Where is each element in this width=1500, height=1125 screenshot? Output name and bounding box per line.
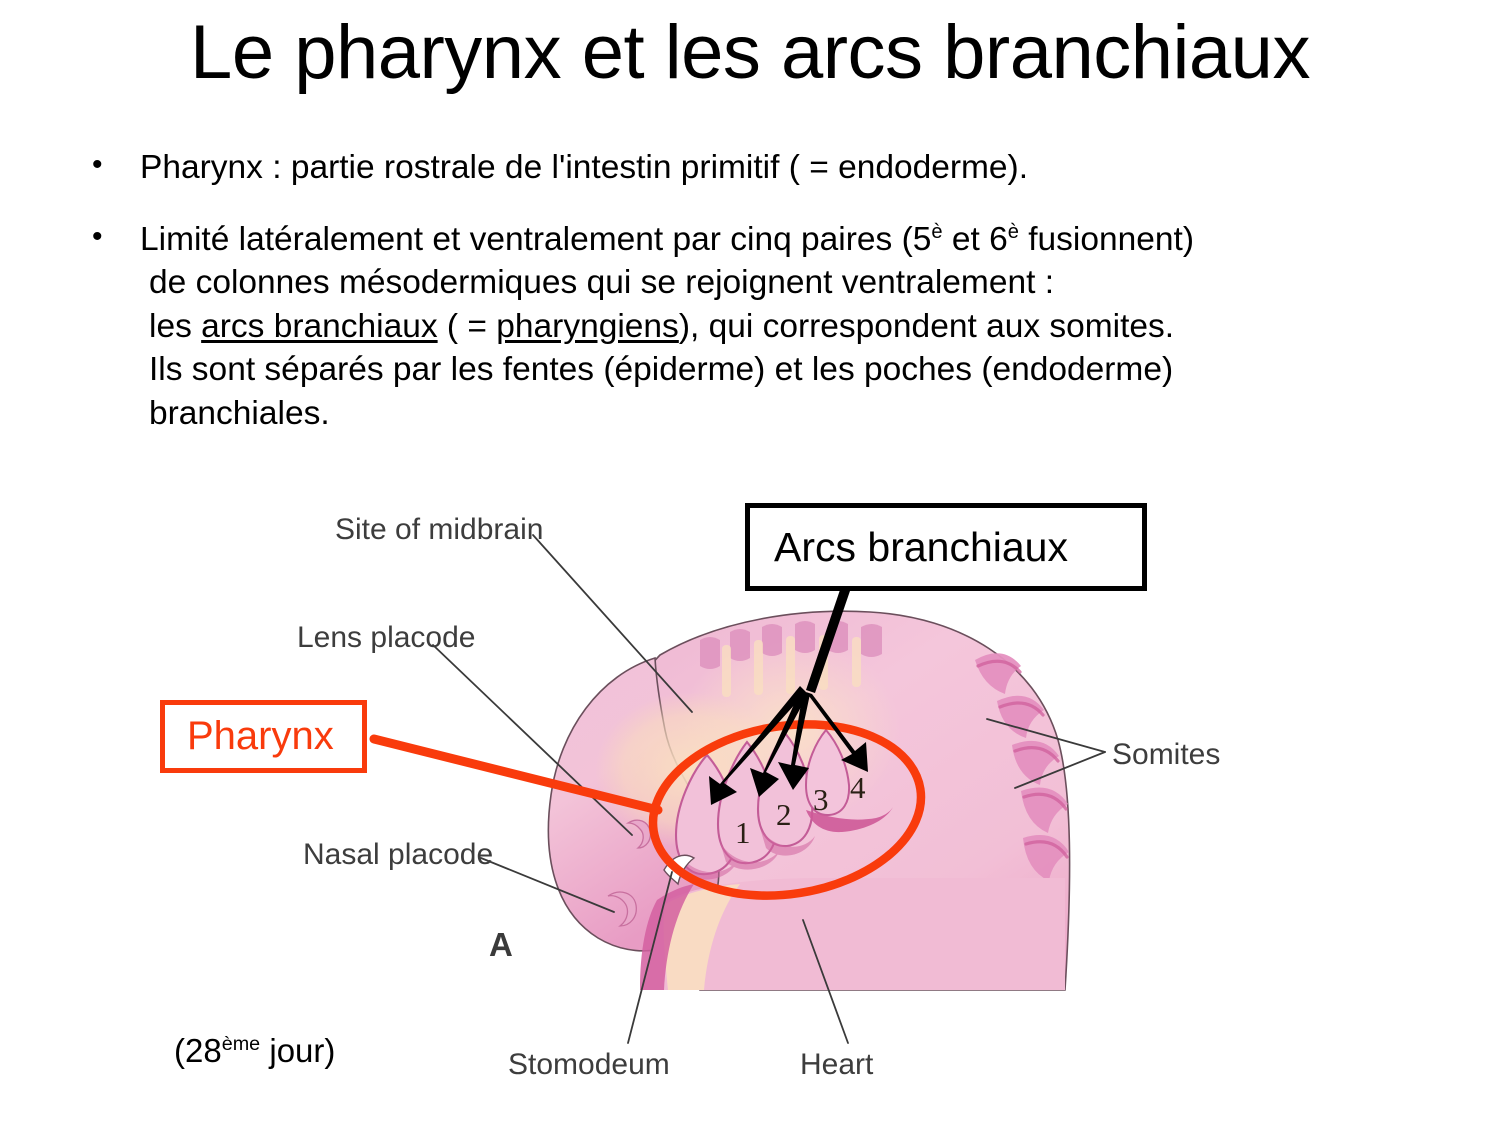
bullet-item-pharynx-definition: • Pharynx : partie rostrale de l'intesti…: [78, 146, 1448, 190]
line-part: Limité latéralement et ventralement par …: [140, 221, 931, 258]
label-nasal-placode: Nasal placode: [303, 838, 493, 872]
bullet-marker: •: [78, 146, 140, 184]
bullet-list: • Pharynx : partie rostrale de l'intesti…: [78, 146, 1448, 435]
bullet-line-3: les arcs branchiaux ( = pharyngiens), qu…: [140, 305, 1448, 349]
bullet-marker: •: [78, 218, 140, 256]
arch-number-2: 2: [776, 797, 792, 833]
caption-day: (28ème jour): [174, 1032, 335, 1070]
arch-number-3: 3: [813, 782, 829, 818]
term-pharyngiens: pharyngiens: [496, 308, 679, 345]
callout-arcs-branchiaux-label: Arcs branchiaux: [774, 524, 1068, 571]
page-title: Le pharynx et les arcs branchiaux: [0, 12, 1500, 94]
bullet-item-arcs-definition: • Limité latéralement et ventralement pa…: [78, 218, 1448, 436]
arch-number-4: 4: [850, 770, 866, 806]
line-part: ( =: [438, 308, 497, 345]
line-part: fusionnent): [1019, 221, 1194, 258]
ordinal-superscript: è: [1008, 220, 1019, 242]
label-heart: Heart: [800, 1048, 873, 1082]
slide-canvas: Le pharynx et les arcs branchiaux • Phar…: [0, 0, 1500, 1125]
ordinal-superscript: è: [931, 220, 942, 242]
callout-pharynx[interactable]: Pharynx: [160, 700, 367, 773]
bullet-line-4: Ils sont séparés par les fentes (épiderm…: [140, 348, 1448, 392]
bullet-text: Pharynx : partie rostrale de l'intestin …: [140, 146, 1448, 190]
bullet-line-1: Limité latéralement et ventralement par …: [140, 218, 1448, 262]
bullet-text: Limité latéralement et ventralement par …: [140, 218, 1448, 436]
callout-arcs-branchiaux[interactable]: Arcs branchiaux: [745, 503, 1147, 591]
heart-bulge: [640, 878, 1065, 990]
bullet-line: Pharynx : partie rostrale de l'intestin …: [140, 146, 1448, 190]
term-arcs-branchiaux: arcs branchiaux: [201, 308, 437, 345]
ordinal-superscript: ème: [222, 1033, 260, 1055]
label-panel-a: A: [489, 926, 513, 964]
caption-part: (28: [174, 1032, 222, 1069]
bullet-line-5: branchiales.: [140, 392, 1448, 436]
line-part: ), qui correspondent aux somites.: [679, 308, 1174, 345]
line-part: et 6: [943, 221, 1008, 258]
label-lens-placode: Lens placode: [297, 621, 475, 655]
label-somites: Somites: [1112, 738, 1220, 772]
callout-pharynx-label: Pharynx: [187, 714, 334, 759]
label-stomodeum: Stomodeum: [508, 1048, 670, 1082]
caption-part: jour): [260, 1032, 335, 1069]
arch-number-1: 1: [735, 815, 751, 851]
line-part: les: [149, 308, 201, 345]
label-site-of-midbrain: Site of midbrain: [335, 513, 543, 547]
bullet-line-2: de colonnes mésodermiques qui se rejoign…: [140, 261, 1448, 305]
